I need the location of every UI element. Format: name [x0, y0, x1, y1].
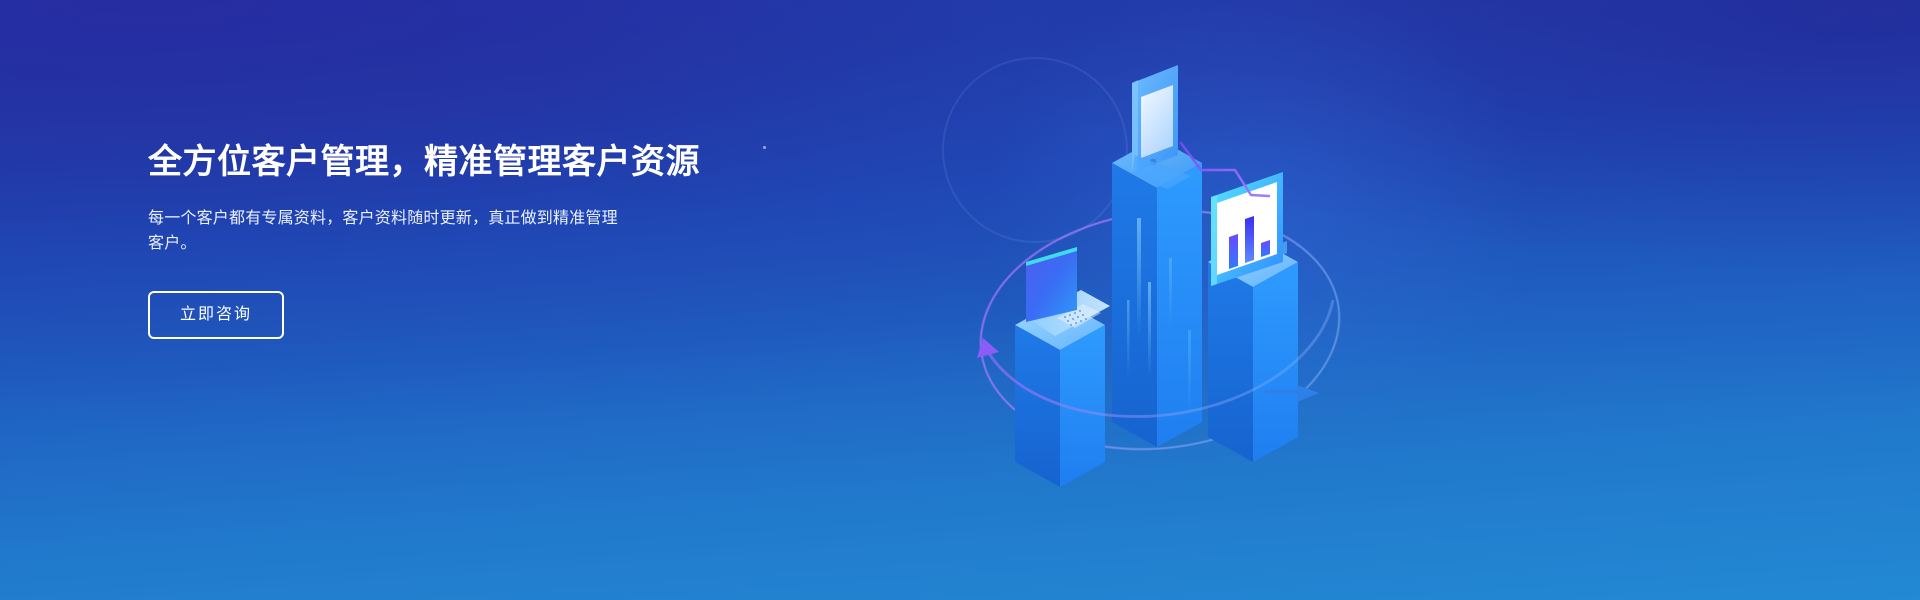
page-title: 全方位客户管理，精准管理客户资源	[148, 140, 788, 184]
hero-illustration	[905, 0, 1425, 600]
hero-banner: 全方位客户管理，精准管理客户资源 每一个客户都有专属资料，客户资料随时更新，真正…	[0, 0, 1920, 600]
consult-now-button[interactable]: 立即咨询	[148, 291, 284, 339]
hero-copy-block: 全方位客户管理，精准管理客户资源 每一个客户都有专属资料，客户资料随时更新，真正…	[148, 140, 788, 339]
ambient-circle	[943, 58, 1127, 242]
hero-subtitle: 每一个客户都有专属资料，客户资料随时更新，真正做到精准管理客户。	[148, 206, 630, 256]
